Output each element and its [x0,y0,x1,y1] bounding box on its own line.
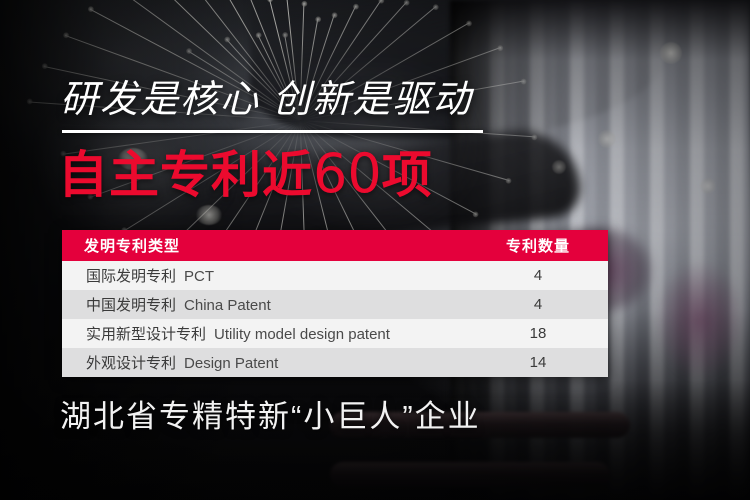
patent-banner: 研发是核心 创新是驱动 自主专利近60项 发明专利类型 专利数量 国际发明专利P… [0,0,750,500]
table-cell-type-en: PCT [184,268,214,285]
headline-main-suffix: 项 [382,147,433,203]
table-row: 实用新型设计专利Utility model design patent 18 [62,319,608,348]
table-cell-count: 18 [468,325,608,342]
table-header-type: 发明专利类型 [62,235,468,256]
table-cell-type-en: Utility model design patent [214,326,390,343]
table-row: 中国发明专利China Patent 4 [62,290,608,319]
table-cell-type: 国际发明专利PCT [62,265,468,286]
table-header-count: 专利数量 [468,235,608,256]
table-cell-count: 14 [468,354,608,371]
table-cell-type-cn: 中国发明专利 [86,297,176,314]
footer-caption: 湖北省专精特新“小巨人”企业 [60,398,481,436]
table-cell-count: 4 [468,296,608,313]
table-cell-type: 中国发明专利China Patent [62,294,468,315]
table-cell-type-cn: 外观设计专利 [86,355,176,372]
headline-subtitle: 研发是核心 创新是驱动 [60,78,473,122]
headline-main-number: 60 [313,142,382,205]
table-cell-count: 4 [468,267,608,284]
table-row: 外观设计专利Design Patent 14 [62,348,608,377]
headline-main-prefix: 自主专利近 [58,147,313,203]
banner-content: 研发是核心 创新是驱动 自主专利近60项 发明专利类型 专利数量 国际发明专利P… [0,0,750,500]
table-header-row: 发明专利类型 专利数量 [62,230,608,261]
table-cell-type-en: Design Patent [184,355,278,372]
headline-main: 自主专利近60项 [58,145,433,204]
table-cell-type-cn: 实用新型设计专利 [86,326,206,343]
table-cell-type-en: China Patent [184,297,271,314]
table-cell-type: 外观设计专利Design Patent [62,352,468,373]
table-cell-type: 实用新型设计专利Utility model design patent [62,323,468,344]
headline-divider-rule [62,130,483,133]
patent-table: 发明专利类型 专利数量 国际发明专利PCT 4 中国发明专利China Pate… [62,230,608,377]
table-row: 国际发明专利PCT 4 [62,261,608,290]
table-cell-type-cn: 国际发明专利 [86,268,176,285]
